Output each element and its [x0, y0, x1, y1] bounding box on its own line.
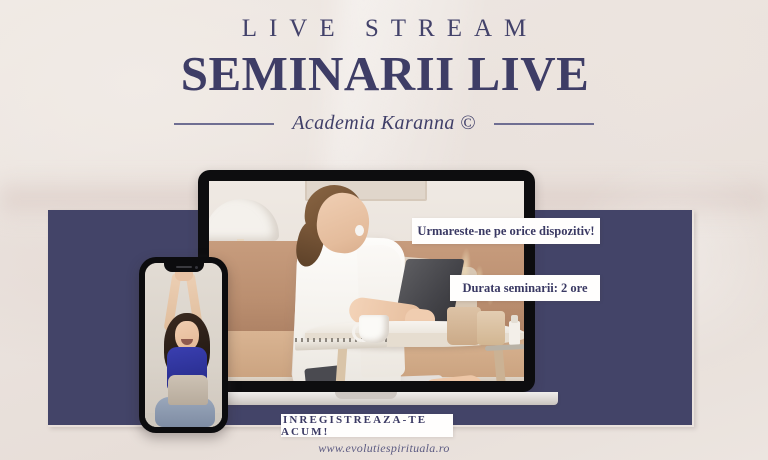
poster-canvas: LIVE STREAM SEMINARII LIVE Academia Kara… — [0, 0, 768, 460]
eyebrow-text: LIVE STREAM — [0, 15, 768, 43]
phone-scene-laptop — [168, 375, 208, 405]
coffee-mug — [359, 315, 389, 343]
bottle — [509, 321, 520, 345]
earbud-icon — [355, 225, 364, 236]
phone-front-camera-icon — [195, 266, 198, 269]
phone-screen — [145, 263, 222, 427]
vase-secondary — [477, 311, 505, 345]
callout-badge-duration: Durata seminarii: 2 ore — [450, 275, 600, 301]
register-cta-button[interactable]: INREGISTREAZA-TE ACUM! — [281, 414, 453, 437]
phone-screen-photo — [145, 263, 222, 427]
floor-lamp-shade — [209, 199, 279, 241]
bottle-cap — [511, 315, 518, 323]
divider-right — [494, 123, 594, 125]
vase — [447, 307, 481, 345]
laptop-base-notch — [335, 392, 397, 399]
website-url[interactable]: www.evolutiespirituala.ro — [0, 441, 768, 456]
callout-badge-device: Urmareste-ne pe orice dispozitiv! — [412, 218, 600, 244]
page-title: SEMINARII LIVE — [0, 48, 768, 99]
brand-name: Academia Karanna © — [292, 112, 476, 135]
phone-mockup — [139, 257, 228, 433]
brand-row: Academia Karanna © — [0, 112, 768, 135]
divider-left — [174, 123, 274, 125]
phone-speaker-grille-icon — [176, 266, 192, 268]
